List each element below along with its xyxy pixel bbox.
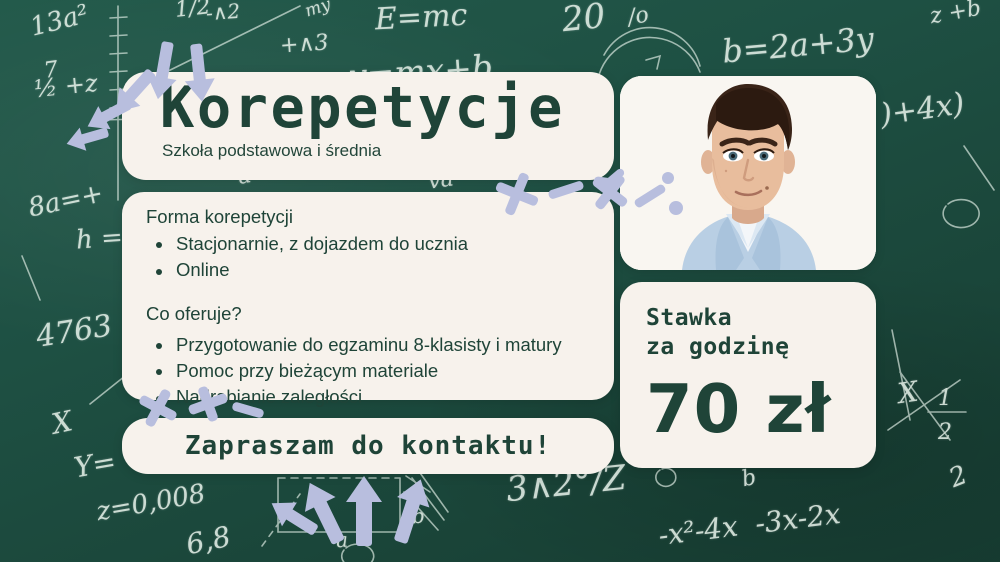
chalk-formula: -∧2 bbox=[205, 0, 241, 25]
portrait-illustration bbox=[620, 76, 876, 270]
chalk-formula: 1 bbox=[938, 386, 952, 411]
arrow-up-icon bbox=[294, 475, 353, 549]
list-item: Pomoc przy bieżącym materiale bbox=[146, 358, 614, 384]
chalk-formula: my bbox=[303, 0, 334, 21]
title-card: Korepetycje Szkoła podstawowa i średnia bbox=[122, 72, 614, 180]
chalk-formula: +∧3 bbox=[279, 30, 329, 58]
list-item: Nadrabianie zaległości bbox=[146, 384, 614, 410]
chalk-formula: /o bbox=[626, 2, 651, 30]
form-list: Stacjonarnie, z dojazdem do ucznia Onlin… bbox=[146, 231, 614, 284]
chalk-formula: 2 bbox=[938, 420, 952, 445]
chalk-formula: E=mc bbox=[374, 0, 468, 37]
price-label-line1: Stawka bbox=[646, 304, 876, 333]
page-title: Korepetycje bbox=[122, 72, 614, 137]
list-item: Online bbox=[146, 257, 614, 283]
chalk-formula: X bbox=[49, 404, 75, 440]
chalk-formula: z=0,008 bbox=[94, 479, 207, 528]
arrow-up-icon bbox=[264, 491, 323, 542]
chalk-formula: 6,8 bbox=[183, 520, 233, 562]
chalk-formula: 8a=+ bbox=[26, 178, 106, 223]
offer-list: Przygotowanie do egzaminu 8-klasisty i m… bbox=[146, 332, 614, 411]
chalk-formula: )+4x) bbox=[878, 86, 967, 132]
chalk-formula: Y= bbox=[71, 445, 118, 485]
list-item: Stacjonarnie, z dojazdem do ucznia bbox=[146, 231, 614, 257]
chalk-formula: X bbox=[896, 375, 920, 410]
chalk-formula: b bbox=[740, 465, 759, 492]
chalk-formula: h = bbox=[75, 222, 124, 255]
chalk-formula: 13a² bbox=[27, 0, 92, 43]
chalk-formula: 20 bbox=[560, 0, 607, 40]
offer-card: Forma korepetycji Stacjonarnie, z dojazd… bbox=[122, 192, 614, 400]
section-heading-form: Forma korepetycji bbox=[146, 206, 614, 228]
arrow-up-icon bbox=[384, 474, 437, 547]
chalk-formula: -x²-4x -3x-2x bbox=[657, 497, 843, 552]
arrow-down-left-icon bbox=[63, 120, 111, 155]
price-label-line2: za godzinę bbox=[646, 333, 876, 362]
section-heading-offer: Co oferuje? bbox=[146, 303, 614, 325]
chalk-formula: b bbox=[411, 504, 425, 529]
chalk-formula: 2 bbox=[945, 460, 972, 494]
portrait-photo-card bbox=[620, 76, 876, 270]
price-card: Stawka za godzinę 70 zł bbox=[620, 282, 876, 468]
poster-canvas: 13a² 1/2 -∧2 my E=mc 20 /o z +b +∧3 b=2a… bbox=[0, 0, 1000, 562]
arrow-up-icon bbox=[346, 476, 382, 546]
chalk-formula: 7 bbox=[42, 57, 59, 84]
chalk-formula: 1/2 bbox=[174, 0, 212, 23]
price-amount: 70 zł bbox=[646, 376, 876, 443]
list-item: Przygotowanie do egzaminu 8-klasisty i m… bbox=[146, 332, 614, 358]
chalk-formula: 4763 bbox=[34, 308, 115, 355]
chalk-formula: a bbox=[335, 528, 349, 553]
contact-cta-card[interactable]: Zapraszam do kontaktu! bbox=[122, 418, 614, 474]
chalk-formula: ½ +z bbox=[33, 69, 99, 104]
chalk-formula: b=2a+3y bbox=[721, 19, 876, 70]
chalk-formula: z +b bbox=[928, 0, 983, 29]
portrait-photo bbox=[620, 76, 876, 270]
contact-cta-text: Zapraszam do kontaktu! bbox=[122, 418, 614, 474]
